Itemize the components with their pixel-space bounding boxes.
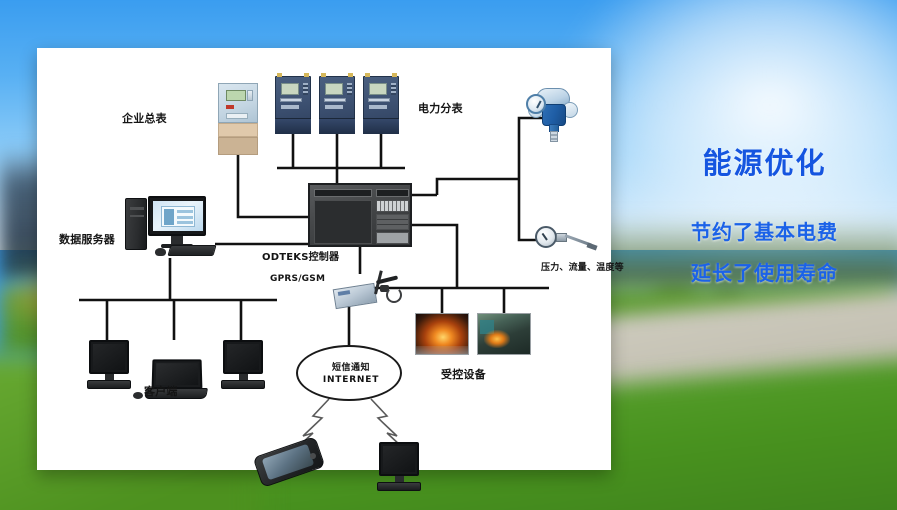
server-application-window [161,206,195,227]
submeter-terminal-cap [365,73,370,77]
controller-display-left [314,189,372,197]
client-monitor [89,340,129,374]
submeter-base [275,118,311,134]
label-sensors: 压力、流量、温度等 [541,260,624,273]
submeter-base [319,118,355,134]
controller-terminal-block [376,200,409,212]
client-monitor [223,340,263,374]
submeter-leds [303,83,308,95]
laptop-mouse [133,392,143,399]
submeter-nameplate [369,105,387,109]
desktop-computer-icon [125,196,215,258]
transmitter-dial [526,94,546,114]
label-gprs-gsm: GPRS/GSM [270,274,325,284]
industrial-furnace-photo [415,313,469,355]
promo-benefit-line-2: 延长了使用寿命 [632,257,897,286]
meter-display [226,90,246,101]
server-screen [153,201,203,231]
electric-meter-icon [218,83,258,155]
controller-keypad [376,214,409,230]
label-data-server: 数据服务器 [59,231,115,247]
submeter-display [369,83,387,95]
internet-cloud-node: 短信通知 INTERNET [296,345,402,401]
meter-housing [218,83,258,123]
submeter-leds [347,83,352,95]
mouse-icon [155,248,166,256]
thermocouple-tip [586,242,597,250]
digital-submeter-icon [275,76,311,134]
odteks-controller-icon [308,183,412,247]
client-desktop-icon [221,340,265,390]
promo-benefit-line-1: 节约了基本电费 [632,216,897,245]
promo-text-block: 能源优化 节约了基本电费 延长了使用寿命 [632,140,897,286]
submeter-nameplate [281,105,299,109]
monitor-stand [171,236,183,244]
promo-title: 能源优化 [632,140,897,182]
controller-display-right [376,189,409,197]
cloud-label-internet: INTERNET [298,375,404,385]
gprs-gsm-modem-icon [334,270,406,312]
system-architecture-diagram: 企业总表 [37,48,611,470]
gauge-dial [535,226,557,248]
submeter-strip [280,98,302,102]
transmitter-body [542,104,566,126]
submeter-base [363,118,399,134]
submeter-display [281,83,299,95]
cloud-label-sms: 短信通知 [298,360,404,373]
submeter-terminal-cap [277,73,282,77]
pressure-transmitter-icon [524,86,580,142]
transmitter-process-connection [550,131,558,142]
submeter-display [325,83,343,95]
submeter-terminal-cap [392,73,397,77]
label-enterprise-main-meter: 企业总表 [122,110,167,126]
label-client: 客户端 [144,383,178,399]
remote-monitor [379,442,419,476]
remote-base-unit [377,482,421,491]
submeter-terminal-cap [304,73,309,77]
pressure-gauge-icon [535,224,597,258]
label-controlled-equipment: 受控设备 [441,366,486,382]
digital-submeter-icon [319,76,355,134]
submeter-leds [391,83,396,95]
submeter-nameplate [325,105,343,109]
meter-terminal-cover [226,113,248,119]
remote-desktop-icon [375,442,429,488]
client-base-unit [221,380,265,389]
submeter-terminal-cap [321,73,326,77]
label-controller: ODTEKS控制器 [262,248,339,263]
client-base-unit [87,380,131,389]
server-tower [125,198,147,250]
digital-submeter-icon [363,76,399,134]
modem-body [333,283,378,309]
controller-bottom-module [376,232,409,244]
controller-main-panel [314,200,372,244]
meter-buttons [247,90,253,101]
submeter-strip [368,98,390,102]
industrial-furnace-photo [477,313,531,355]
meter-mount-lower [218,137,258,155]
submeter-strip [324,98,346,102]
smartphone-icon [256,442,322,484]
meter-indicator [226,105,234,109]
submeter-terminal-cap [348,73,353,77]
diagram-panel: 企业总表 [37,48,611,470]
meter-mount-upper [218,123,258,137]
modem-cable [386,287,402,303]
label-power-submeter: 电力分表 [418,100,463,116]
client-desktop-icon [87,340,131,390]
server-monitor [148,196,206,236]
keyboard-icon [167,245,216,256]
